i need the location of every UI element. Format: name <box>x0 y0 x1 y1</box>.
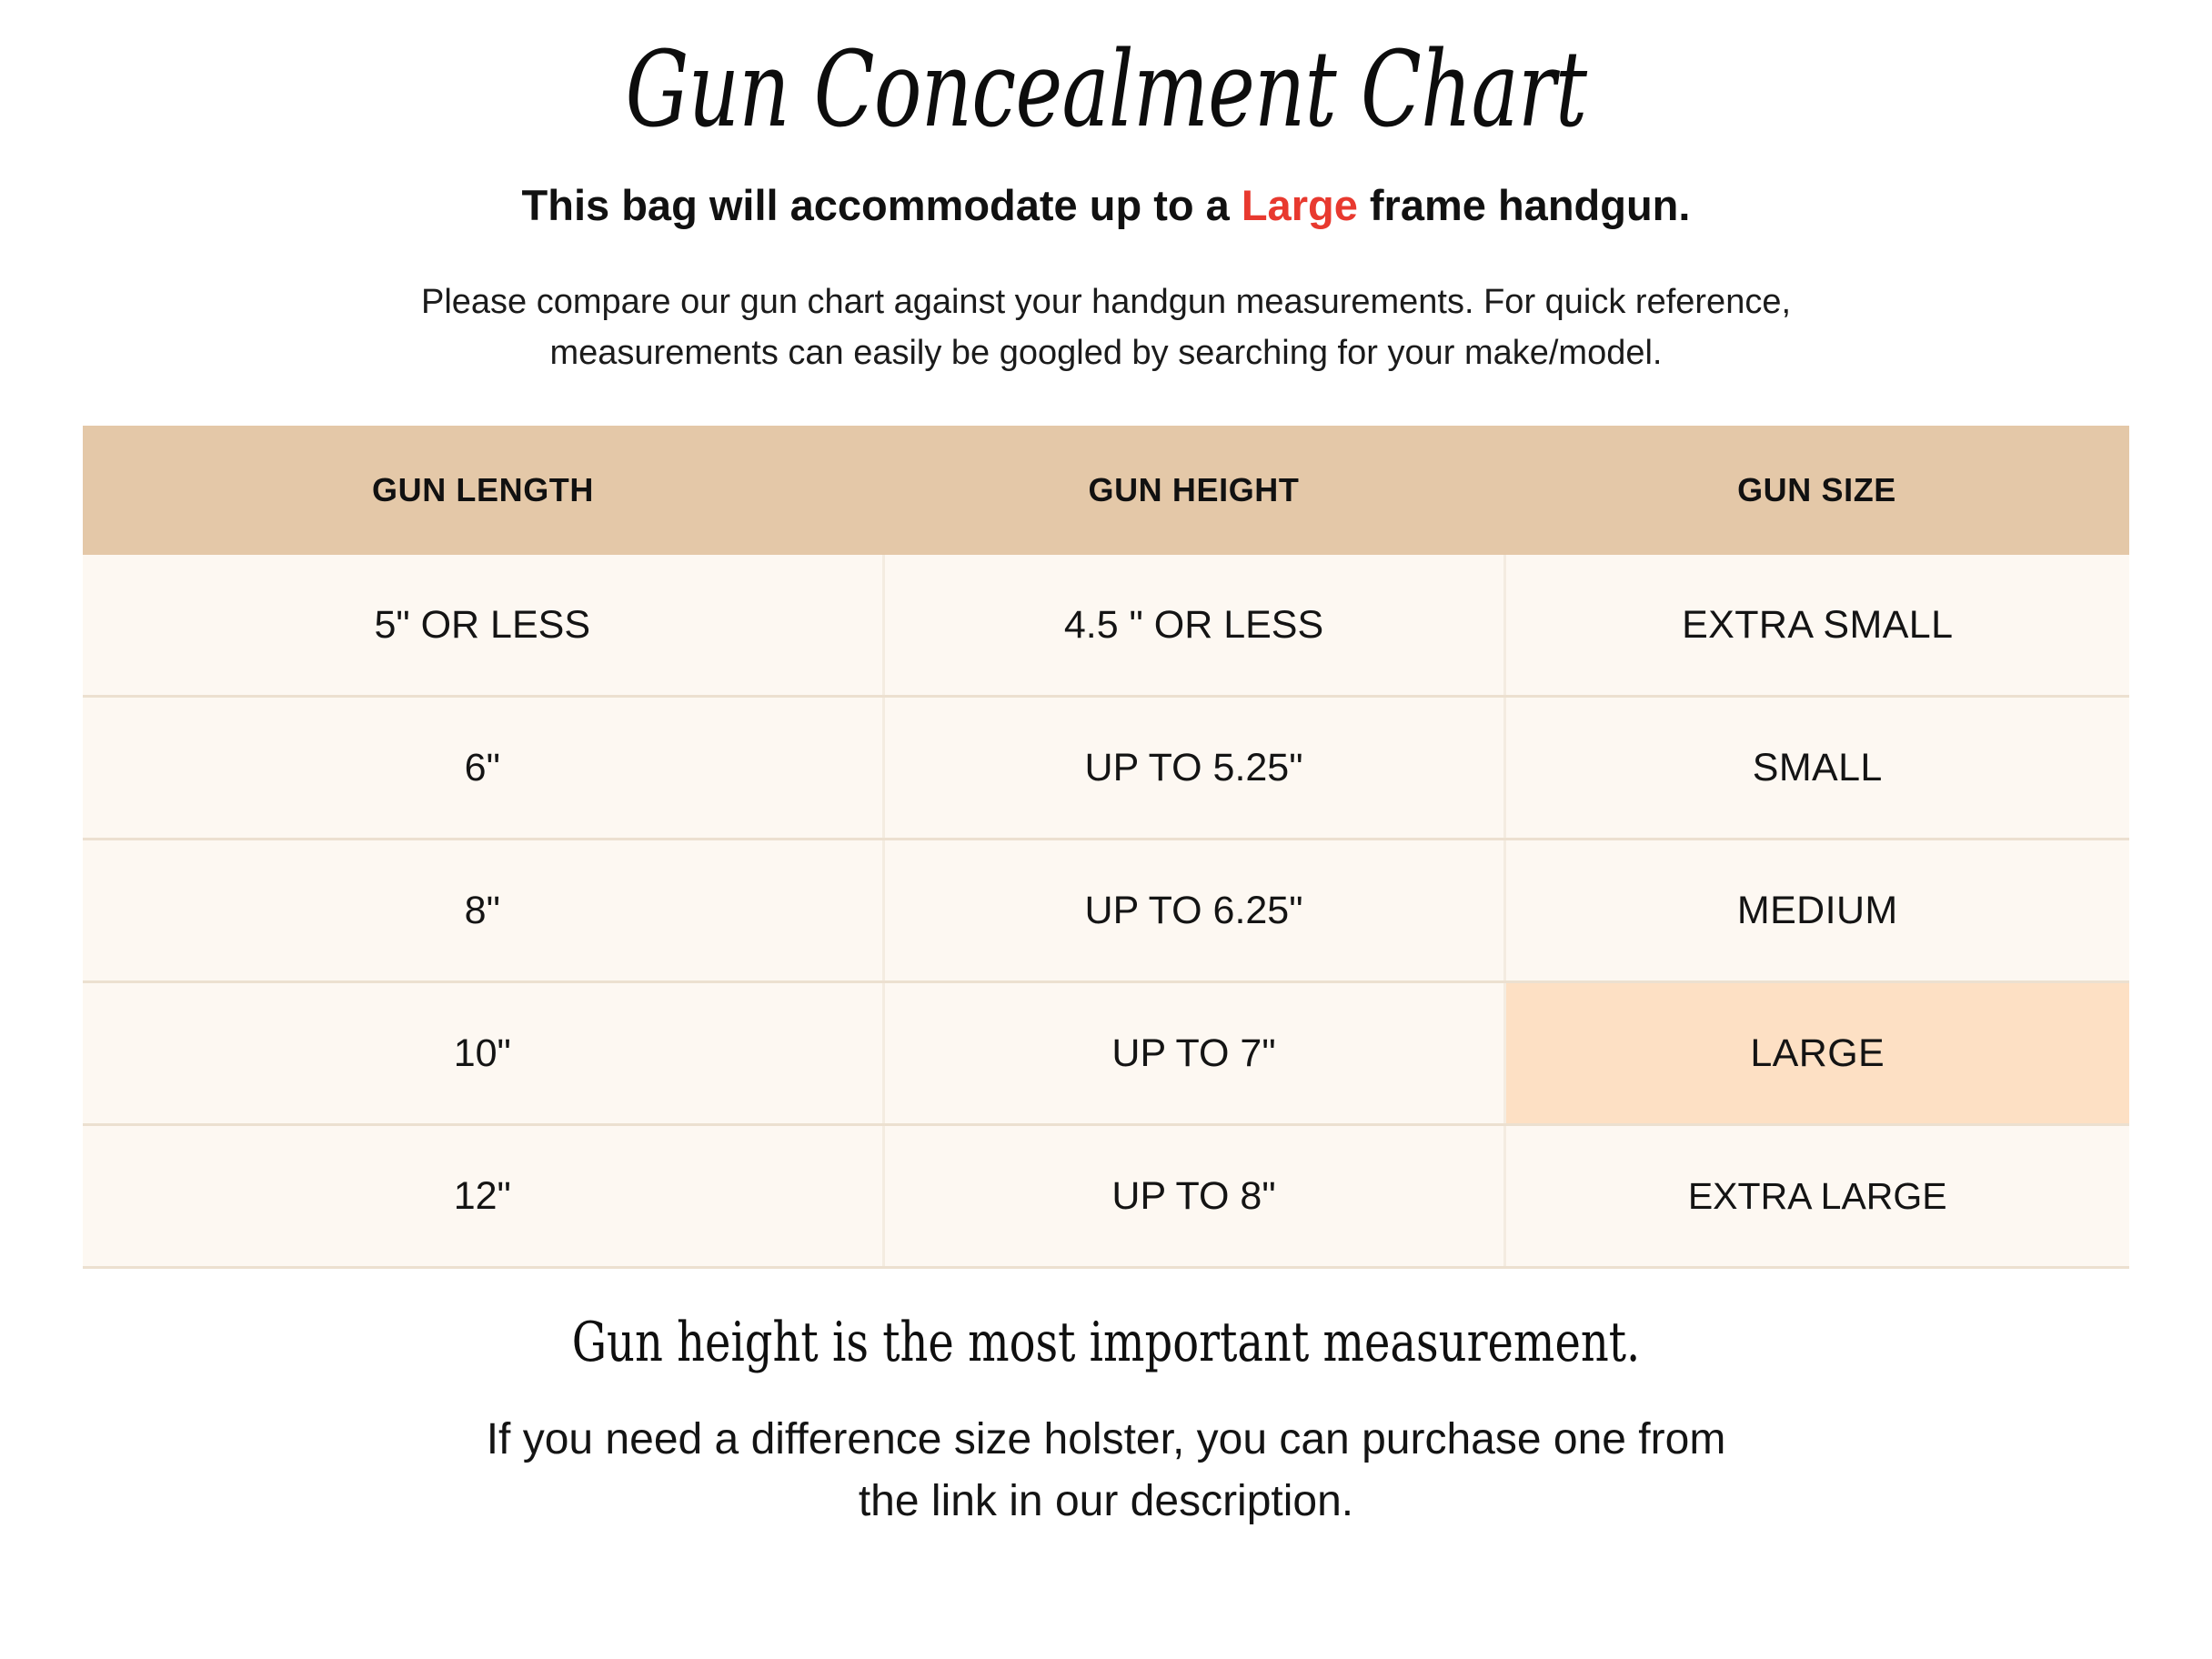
cell-gun-length: 6" <box>83 697 883 840</box>
subtitle: This bag will accommodate up to a Large … <box>0 143 2212 233</box>
table-body: 5" OR LESS 4.5 " OR LESS EXTRA SMALL 6" … <box>83 555 2129 1268</box>
table-header-row: GUN LENGTH GUN HEIGHT GUN SIZE <box>83 426 2129 555</box>
table-row: 5" OR LESS 4.5 " OR LESS EXTRA SMALL <box>83 555 2129 697</box>
intro-paragraph: Please compare our gun chart against you… <box>106 233 2106 378</box>
cell-gun-length: 8" <box>83 840 883 982</box>
cell-gun-height: UP TO 8" <box>883 1125 1504 1268</box>
cell-gun-length: 5" OR LESS <box>83 555 883 697</box>
footer-line-1: If you need a difference size holster, y… <box>174 1409 2038 1471</box>
cell-gun-height: 4.5 " OR LESS <box>883 555 1504 697</box>
intro-line-2: measurements can easily be googled by se… <box>106 327 2106 378</box>
column-header-gun-length: GUN LENGTH <box>83 426 883 555</box>
footer-line-2: the link in our description. <box>174 1471 2038 1533</box>
cell-gun-height: UP TO 6.25" <box>883 840 1504 982</box>
cell-gun-size: EXTRA LARGE <box>1504 1125 2129 1268</box>
subtitle-text-before: This bag will accommodate up to a <box>522 181 1242 229</box>
gun-concealment-chart-page: Gun Concealment Chart This bag will acco… <box>0 0 2212 1659</box>
cell-gun-size: SMALL <box>1504 697 2129 840</box>
cell-gun-size: EXTRA SMALL <box>1504 555 2129 697</box>
subtitle-accent-size: Large <box>1242 181 1358 229</box>
cell-gun-height: UP TO 5.25" <box>883 697 1504 840</box>
intro-line-1: Please compare our gun chart against you… <box>106 276 2106 327</box>
table-row: 6" UP TO 5.25" SMALL <box>83 697 2129 840</box>
cell-gun-size-highlighted: LARGE <box>1504 982 2129 1125</box>
table-header: GUN LENGTH GUN HEIGHT GUN SIZE <box>83 426 2129 555</box>
gun-size-table-wrapper: GUN LENGTH GUN HEIGHT GUN SIZE 5" OR LES… <box>83 378 2129 1269</box>
cell-gun-height: UP TO 7" <box>883 982 1504 1125</box>
subtitle-text-after: frame handgun. <box>1358 181 1691 229</box>
table-row: 8" UP TO 6.25" MEDIUM <box>83 840 2129 982</box>
cell-gun-length: 12" <box>83 1125 883 1268</box>
cell-gun-size: MEDIUM <box>1504 840 2129 982</box>
column-header-gun-size: GUN SIZE <box>1504 426 2129 555</box>
footer-paragraph: If you need a difference size holster, y… <box>174 1372 2038 1533</box>
column-header-gun-height: GUN HEIGHT <box>883 426 1504 555</box>
table-row: 12" UP TO 8" EXTRA LARGE <box>83 1125 2129 1268</box>
gun-size-table: GUN LENGTH GUN HEIGHT GUN SIZE 5" OR LES… <box>83 426 2129 1269</box>
table-row-highlighted: 10" UP TO 7" LARGE <box>83 982 2129 1125</box>
footer-emphasis: Gun height is the most important measure… <box>221 1269 1991 1372</box>
cell-gun-length: 10" <box>83 982 883 1125</box>
page-title: Gun Concealment Chart <box>266 0 1946 143</box>
